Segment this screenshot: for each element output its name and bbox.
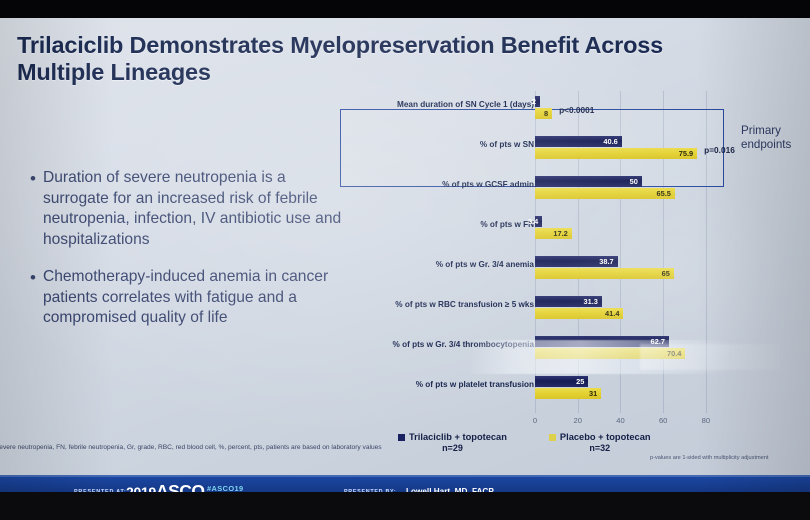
chart-row-bars: 5065.5 (535, 175, 723, 207)
bar-trilaciclib: 25 (535, 376, 588, 387)
chart-row-label: % of pts w FN (356, 220, 534, 229)
chart-row-label: % of pts w platelet transfusion (356, 380, 534, 389)
letterbox-top (0, 0, 810, 18)
p-value-annotation: p=0.016 (704, 145, 735, 155)
legend-n: n=32 (589, 443, 610, 453)
bar-trilaciclib: 50 (535, 176, 642, 187)
bullet-list: • Duration of severe neutropenia is a su… (30, 168, 342, 345)
bar-value-label: 41.4 (605, 308, 619, 319)
bar-value-label: 17.2 (553, 228, 567, 239)
bar-trilaciclib: 62.7 (535, 336, 669, 347)
bar-trilaciclib: 40.6 (535, 136, 622, 147)
footnote-right: p-values are 1-sided with multiplicity a… (650, 455, 810, 461)
legend-item-trilaciclib: Trilaciclib + topotecan n=29 (398, 432, 507, 453)
bar-placebo: 65 (535, 268, 674, 279)
legend-label: Trilaciclib + topotecan (409, 432, 507, 442)
footnote-left: severe neutropenia, FN, febrile neutrope… (0, 443, 396, 453)
bar-value-label: 40.6 (603, 136, 617, 147)
chart-x-axis: 020406080 (535, 416, 723, 428)
p-value-annotation: p<0.0001 (559, 105, 594, 115)
primary-endpoints-label: Primary endpoints (741, 124, 807, 152)
bar-placebo: 8 (535, 108, 552, 119)
axis-tick-label: 0 (533, 416, 537, 425)
chart-row: % of pts w Gr. 3/4 thrombocytopenia62.77… (336, 331, 726, 371)
chart-row-bars: 40.675.9 (535, 135, 723, 167)
bar-placebo: 65.5 (535, 188, 675, 199)
bar-placebo: 70.4 (535, 348, 685, 359)
bar-value-label: 38.7 (599, 256, 613, 267)
bar-value-label: 8 (544, 108, 548, 119)
bar-placebo: 41.4 (535, 308, 623, 319)
axis-tick-label: 80 (702, 416, 710, 425)
bar-trilaciclib: 38.7 (535, 256, 618, 267)
bar-value-label: 31.3 (583, 296, 597, 307)
chart-row: Mean duration of SN Cycle 1 (days)28p<0.… (336, 91, 726, 131)
bar-value-label: 70.4 (667, 348, 681, 359)
legend-swatch-icon (398, 434, 405, 441)
bar-value-label: 25 (576, 376, 584, 387)
bar-value-label: 75.9 (679, 148, 693, 159)
bar-trilaciclib: 2 (535, 96, 540, 107)
axis-tick-label: 60 (659, 416, 667, 425)
bar-chart: Mean duration of SN Cycle 1 (days)28p<0.… (336, 91, 726, 421)
chart-row: % of pts w SN40.675.9p=0.016 (336, 131, 726, 171)
chart-row: % of pts w RBC transfusion ≥ 5 wks31.341… (336, 291, 726, 331)
chart-row-bars: 31.341.4 (535, 295, 723, 327)
bar-value-label: 50 (630, 176, 638, 187)
bullet-text: Duration of severe neutropenia is a surr… (43, 168, 342, 251)
bullet-dot-icon: • (30, 168, 36, 251)
chart-row-label: % of pts w GCSF admin (356, 180, 534, 189)
chart-row: % of pts w FN3.417.2 (336, 211, 726, 251)
chart-row-label: % of pts w Gr. 3/4 thrombocytopenia (356, 340, 534, 349)
legend-swatch-icon (549, 434, 556, 441)
bar-trilaciclib: 3.4 (535, 216, 542, 227)
list-item: • Duration of severe neutropenia is a su… (30, 168, 342, 251)
letterbox-bottom (0, 492, 810, 520)
bullet-text: Chemotherapy-induced anemia in cancer pa… (43, 267, 342, 329)
chart-row-bars: 62.770.4 (535, 335, 723, 367)
bar-value-label: 62.7 (651, 336, 665, 347)
chart-rows: Mean duration of SN Cycle 1 (days)28p<0.… (336, 91, 726, 411)
chart-row-label: % of pts w RBC transfusion ≥ 5 wks (356, 300, 534, 309)
bar-value-label: 2 (532, 96, 536, 107)
legend-item-placebo: Placebo + topotecan n=32 (549, 432, 651, 453)
screenshot-stage: Trilaciclib Demonstrates Myelopreservati… (0, 0, 810, 520)
chart-row: % of pts w GCSF admin5065.5 (336, 171, 726, 211)
chart-row-bars: 38.765 (535, 255, 723, 287)
bar-value-label: 31 (589, 388, 597, 399)
bar-placebo: 17.2 (535, 228, 572, 239)
chart-row-label: % of pts w Gr. 3/4 anemia (356, 260, 534, 269)
bar-value-label: 65.5 (657, 188, 671, 199)
chart-row-label: Mean duration of SN Cycle 1 (days) (356, 100, 534, 109)
slide-title: Trilaciclib Demonstrates Myelopreservati… (17, 32, 717, 87)
chart-row-bars: 2531 (535, 375, 723, 407)
bar-placebo: 31 (535, 388, 601, 399)
bar-trilaciclib: 31.3 (535, 296, 602, 307)
legend-n: n=29 (442, 443, 463, 453)
chart-row: % of pts w Gr. 3/4 anemia38.765 (336, 251, 726, 291)
bullet-dot-icon: • (30, 267, 36, 329)
axis-tick-label: 20 (573, 416, 581, 425)
chart-row-label: % of pts w SN (356, 140, 534, 149)
bar-placebo: 75.9 (535, 148, 697, 159)
bar-value-label: 65 (662, 268, 670, 279)
chart-row-bars: 3.417.2 (535, 215, 723, 247)
presentation-slide: Trilaciclib Demonstrates Myelopreservati… (0, 18, 810, 492)
chart-row: % of pts w platelet transfusion2531 (336, 371, 726, 411)
list-item: • Chemotherapy-induced anemia in cancer … (30, 267, 342, 329)
chart-legend: Trilaciclib + topotecan n=29 Placebo + t… (398, 432, 651, 453)
bar-value-label: 3.4 (528, 216, 538, 227)
axis-tick-label: 40 (616, 416, 624, 425)
legend-label: Placebo + topotecan (560, 432, 651, 442)
